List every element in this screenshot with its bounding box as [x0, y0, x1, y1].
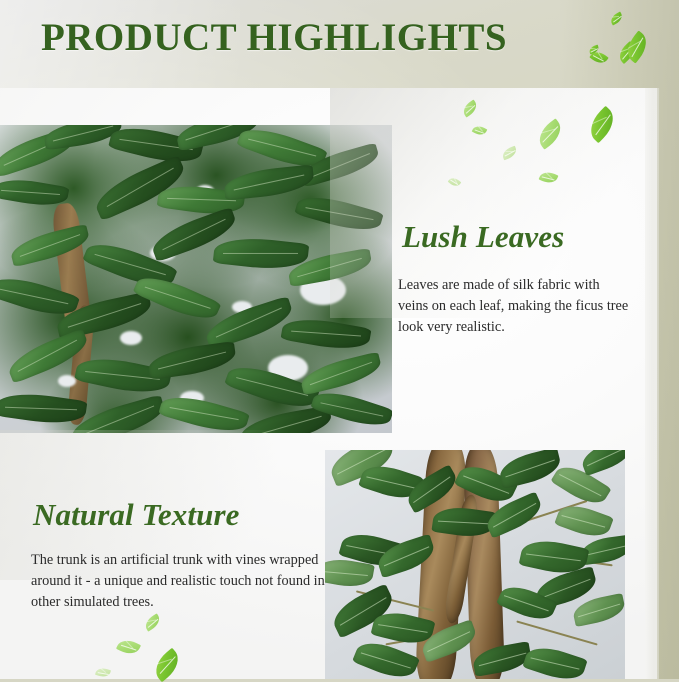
feature-body-natural-texture: The trunk is an artificial trunk with vi…	[31, 550, 331, 613]
feature-heading-natural-texture: Natural Texture	[33, 497, 240, 533]
foliage-gap	[120, 331, 142, 345]
feature-heading-lush-leaves: Lush Leaves	[402, 219, 564, 255]
page-title: PRODUCT HIGHLIGHTS	[41, 18, 507, 57]
foliage-gap	[58, 375, 76, 387]
feature-photo-lush-leaves	[0, 125, 392, 433]
feature-photo-natural-texture	[325, 450, 625, 679]
panel-right-edge	[645, 88, 659, 679]
feature-body-lush-leaves: Leaves are made of silk fabric with vein…	[398, 275, 630, 338]
